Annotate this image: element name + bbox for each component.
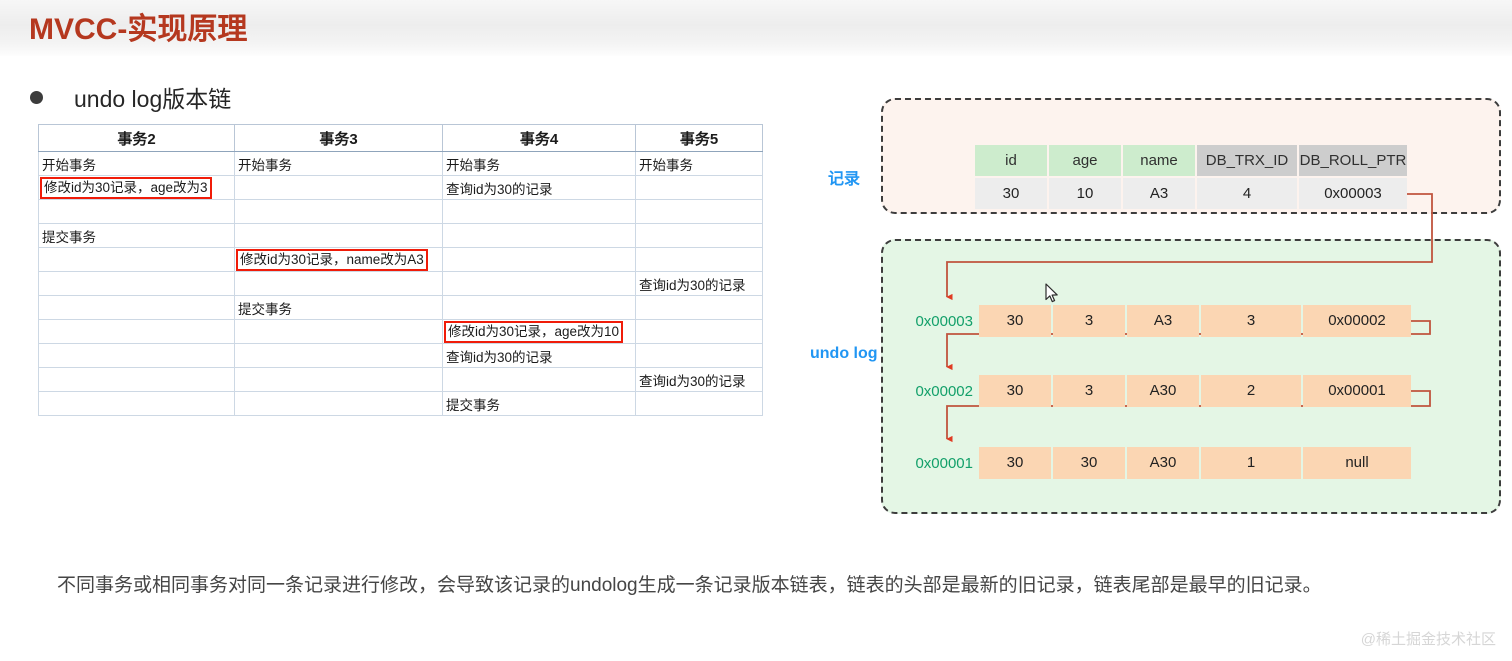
- table-cell: [443, 200, 636, 224]
- cell-text: 查询id为30的记录: [446, 182, 553, 197]
- mouse-cursor-icon: [1045, 283, 1061, 305]
- record-column-db-trx-id: DB_TRX_ID 4: [1197, 145, 1297, 209]
- table-row: 修改id为30记录，age改为10: [39, 320, 763, 344]
- table-cell: 开始事务: [443, 152, 636, 176]
- undolog-cell-db-trx-id: 2: [1201, 375, 1301, 407]
- column-header-txn2: 事务2: [39, 125, 235, 152]
- record-header-id: id: [975, 145, 1047, 176]
- table-cell: [636, 224, 763, 248]
- column-header-txn4: 事务4: [443, 125, 636, 152]
- record-column-id: id 30: [975, 145, 1047, 209]
- table-cell: [636, 344, 763, 368]
- record-column-db-roll-ptr: DB_ROLL_PTR 0x00003: [1299, 145, 1407, 209]
- table-cell: [443, 368, 636, 392]
- undolog-cell-db-roll-ptr: 0x00001: [1303, 375, 1411, 407]
- undolog-cell-db-trx-id: 3: [1201, 305, 1301, 337]
- cell-text: 提交事务: [42, 230, 96, 245]
- table-row: 查询id为30的记录: [39, 368, 763, 392]
- undolog-cell-db-roll-ptr: null: [1303, 447, 1411, 479]
- undolog-entry-row: 0x00003 30 3 A3 3 0x00002: [915, 305, 1411, 337]
- bullet-heading-label: undo log版本链: [74, 80, 231, 114]
- table-cell: 查询id为30的记录: [636, 272, 763, 296]
- table-cell: [235, 320, 443, 344]
- table-row: 修改id为30记录，name改为A3: [39, 248, 763, 272]
- table-cell: [235, 392, 443, 416]
- undolog-cell-age: 3: [1053, 305, 1125, 337]
- table-cell: 修改id为30记录，name改为A3: [235, 248, 443, 272]
- bullet-dot-icon: [30, 91, 43, 104]
- record-header-age: age: [1049, 145, 1121, 176]
- table-row: [39, 200, 763, 224]
- cell-text: 查询id为30的记录: [639, 374, 746, 389]
- column-header-txn3: 事务3: [235, 125, 443, 152]
- table-cell: 查询id为30的记录: [636, 368, 763, 392]
- record-column-name: name A3: [1123, 145, 1195, 209]
- page-title: MVCC-实现原理: [29, 4, 247, 48]
- cell-text: 开始事务: [639, 158, 693, 173]
- table-cell: 查询id为30的记录: [443, 176, 636, 200]
- table-cell: [39, 200, 235, 224]
- table-cell: [39, 272, 235, 296]
- table-header-row: 事务2 事务3 事务4 事务5: [39, 125, 763, 152]
- table-cell: 开始事务: [636, 152, 763, 176]
- record-value-db-roll-ptr: 0x00003: [1299, 178, 1407, 209]
- table-cell: [636, 176, 763, 200]
- table-row: 查询id为30的记录: [39, 272, 763, 296]
- table-cell: [235, 200, 443, 224]
- table-cell: [235, 176, 443, 200]
- record-region-label: 记录: [828, 165, 860, 189]
- undolog-cell-age: 30: [1053, 447, 1125, 479]
- table-cell: [443, 248, 636, 272]
- table-cell: [39, 320, 235, 344]
- record-header-db-trx-id: DB_TRX_ID: [1197, 145, 1297, 176]
- bullet-heading: undo log版本链: [30, 80, 231, 114]
- undolog-address: 0x00002: [915, 383, 973, 400]
- table-cell: 修改id为30记录，age改为10: [443, 320, 636, 344]
- undolog-region-label: undo log: [810, 345, 878, 363]
- table-cell: [443, 224, 636, 248]
- undolog-cell-db-roll-ptr: 0x00002: [1303, 305, 1411, 337]
- table-row: 修改id为30记录，age改为3查询id为30的记录: [39, 176, 763, 200]
- table-cell: [39, 392, 235, 416]
- undolog-address: 0x00003: [915, 313, 973, 330]
- undolog-cell-id: 30: [979, 305, 1051, 337]
- table-cell: [235, 272, 443, 296]
- table-cell: 提交事务: [235, 296, 443, 320]
- table-cell: [39, 368, 235, 392]
- table-cell: [39, 296, 235, 320]
- cell-text: 提交事务: [446, 398, 500, 413]
- transaction-timeline-table: 事务2 事务3 事务4 事务5 开始事务开始事务开始事务开始事务修改id为30记…: [38, 124, 763, 416]
- record-value-id: 30: [975, 178, 1047, 209]
- record-value-db-trx-id: 4: [1197, 178, 1297, 209]
- table-cell: [636, 296, 763, 320]
- undolog-entry-row: 0x00002 30 3 A30 2 0x00001: [915, 375, 1411, 407]
- table-cell: [39, 248, 235, 272]
- undolog-cell-id: 30: [979, 447, 1051, 479]
- table-cell: 开始事务: [39, 152, 235, 176]
- table-cell: [636, 200, 763, 224]
- cell-text: 开始事务: [446, 158, 500, 173]
- body-paragraph: 不同事务或相同事务对同一条记录进行修改，会导致该记录的undolog生成一条记录…: [57, 563, 1477, 608]
- cell-text: 提交事务: [238, 302, 292, 317]
- record-header-name: name: [1123, 145, 1195, 176]
- table-cell: [443, 272, 636, 296]
- undolog-entry-row: 0x00001 30 30 A30 1 null: [915, 447, 1411, 479]
- table-row: 开始事务开始事务开始事务开始事务: [39, 152, 763, 176]
- table-cell: [636, 248, 763, 272]
- undolog-cell-id: 30: [979, 375, 1051, 407]
- watermark: @稀土掘金技术社区: [1361, 628, 1496, 649]
- table-cell: [235, 224, 443, 248]
- table-cell: 提交事务: [39, 224, 235, 248]
- cell-text: 查询id为30的记录: [639, 278, 746, 293]
- undolog-cell-name: A3: [1127, 305, 1199, 337]
- table-row: 查询id为30的记录: [39, 344, 763, 368]
- table-cell: [235, 344, 443, 368]
- undolog-address: 0x00001: [915, 455, 973, 472]
- column-header-txn5: 事务5: [636, 125, 763, 152]
- highlighted-operation: 修改id为30记录，age改为10: [444, 321, 623, 343]
- record-header-db-roll-ptr: DB_ROLL_PTR: [1299, 145, 1407, 176]
- slide-header: MVCC-实现原理: [0, 0, 1512, 56]
- table-cell: 开始事务: [235, 152, 443, 176]
- record-row-table: id 30 age 10 name A3 DB_TRX_ID 4 DB_ROLL…: [975, 145, 1407, 209]
- highlighted-operation: 修改id为30记录，age改为3: [40, 177, 212, 199]
- undolog-cell-name: A30: [1127, 447, 1199, 479]
- table-cell: [39, 344, 235, 368]
- record-value-name: A3: [1123, 178, 1195, 209]
- cell-text: 开始事务: [238, 158, 292, 173]
- table-cell: 修改id为30记录，age改为3: [39, 176, 235, 200]
- table-cell: [636, 392, 763, 416]
- table-row: 提交事务: [39, 392, 763, 416]
- table-cell: 提交事务: [443, 392, 636, 416]
- cell-text: 查询id为30的记录: [446, 350, 553, 365]
- undolog-cell-db-trx-id: 1: [1201, 447, 1301, 479]
- record-value-age: 10: [1049, 178, 1121, 209]
- highlighted-operation: 修改id为30记录，name改为A3: [236, 249, 428, 271]
- table-row: 提交事务: [39, 224, 763, 248]
- table-cell: 查询id为30的记录: [443, 344, 636, 368]
- table-cell: [636, 320, 763, 344]
- record-column-age: age 10: [1049, 145, 1121, 209]
- undolog-cell-age: 3: [1053, 375, 1125, 407]
- table-cell: [443, 296, 636, 320]
- undolog-cell-name: A30: [1127, 375, 1199, 407]
- table-cell: [235, 368, 443, 392]
- table-row: 提交事务: [39, 296, 763, 320]
- cell-text: 开始事务: [42, 158, 96, 173]
